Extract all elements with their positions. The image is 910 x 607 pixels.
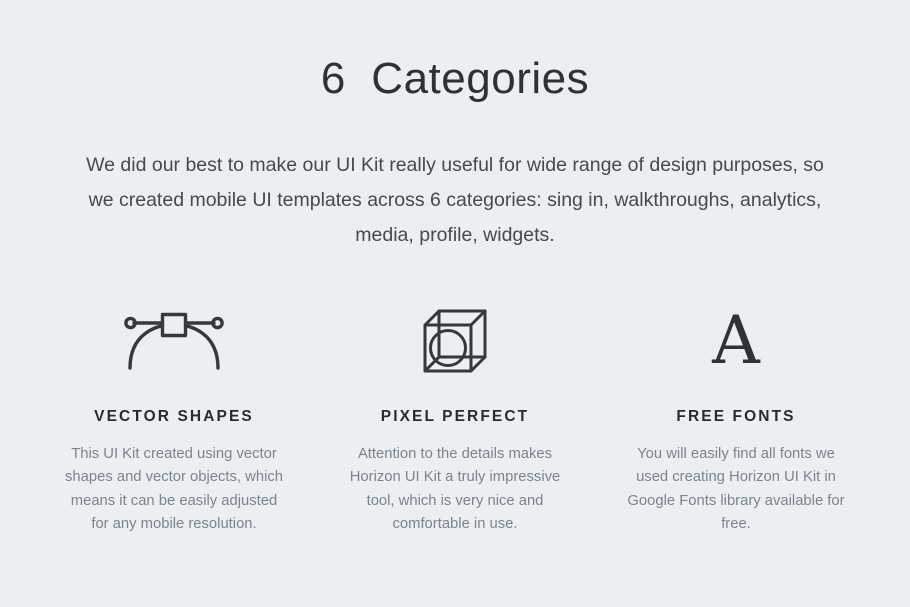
feature-card-pixel-perfect: PIXEL PERFECT Attention to the details m… bbox=[315, 300, 596, 537]
feature-card-free-fonts: A FREE FONTS You will easily find all fo… bbox=[596, 300, 877, 537]
bezier-pen-node-icon bbox=[124, 300, 224, 382]
feature-description: Attention to the details makes Horizon U… bbox=[343, 443, 568, 537]
page-title: 6 Categories bbox=[0, 55, 910, 103]
section-intro-text: We did our best to make our UI Kit reall… bbox=[75, 148, 835, 253]
feature-columns: VECTOR SHAPES This UI Kit created using … bbox=[0, 300, 910, 537]
feature-description: You will easily find all fonts we used c… bbox=[624, 443, 849, 537]
feature-title: PIXEL PERFECT bbox=[381, 408, 529, 427]
letter-a-glyph: A bbox=[712, 308, 760, 374]
wireframe-cube-circle-icon bbox=[422, 300, 488, 382]
feature-title: VECTOR SHAPES bbox=[94, 408, 254, 427]
feature-title: FREE FONTS bbox=[676, 408, 795, 427]
categories-section: 6 Categories We did our best to make our… bbox=[0, 0, 910, 607]
letter-a-icon: A bbox=[712, 300, 760, 382]
feature-description: This UI Kit created using vector shapes … bbox=[62, 443, 287, 537]
feature-card-vector-shapes: VECTOR SHAPES This UI Kit created using … bbox=[34, 300, 315, 537]
